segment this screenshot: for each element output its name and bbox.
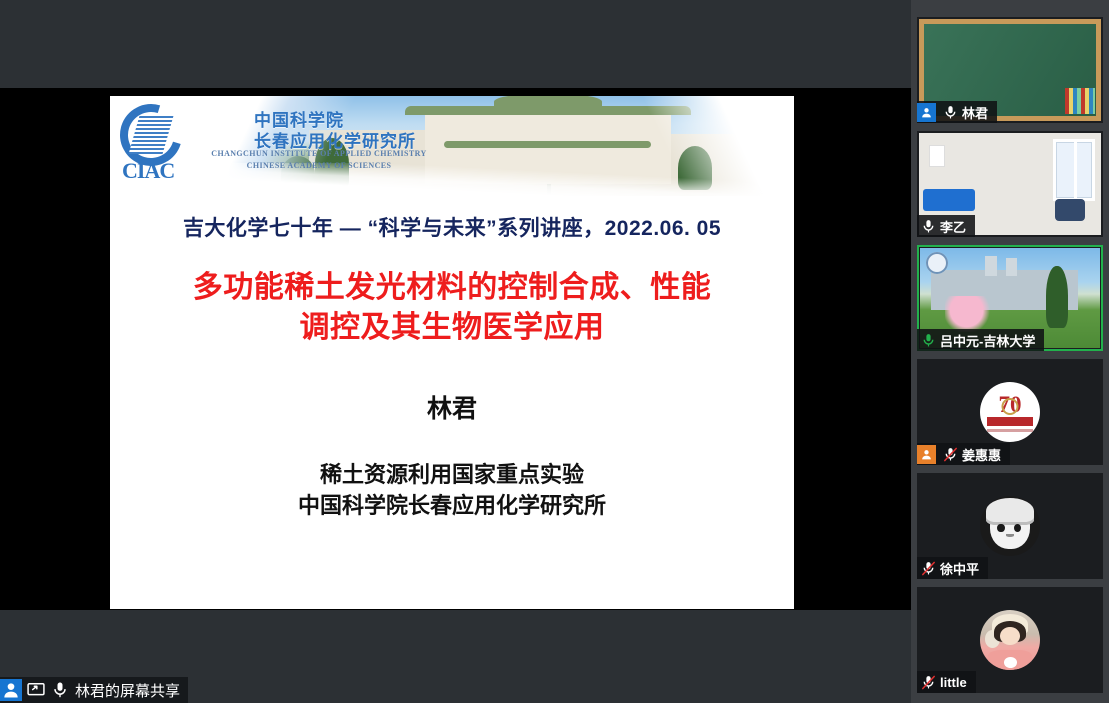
presenter-name: 林君 <box>110 389 794 425</box>
slide-title-line1: 多功能稀土发光材料的控制合成、性能 <box>136 268 768 308</box>
participant-tile[interactable]: 70 姜惠惠 <box>917 359 1103 465</box>
slide-title-line2: 调控及其生物医学应用 <box>136 308 768 348</box>
person-icon <box>917 103 936 122</box>
participant-name-strip: 李乙 <box>917 215 975 237</box>
screen-share-status-bar: 林君的屏幕共享 <box>0 677 188 703</box>
participant-filmstrip[interactable]: 林君 李乙 <box>911 0 1109 703</box>
manga-character-avatar-icon <box>980 496 1040 556</box>
participant-name: 林君 <box>962 103 988 122</box>
participant-tile[interactable]: 徐中平 <box>917 473 1103 579</box>
participant-name-strip: 姜惠惠 <box>917 443 1010 465</box>
participant-name: 吕中元-吉林大学 <box>940 331 1035 350</box>
participant-tile[interactable]: 李乙 <box>917 131 1103 237</box>
screen-share-label: 林君的屏幕共享 <box>74 680 180 701</box>
participant-tile[interactable]: 林君 <box>917 17 1103 123</box>
child-photo-avatar-icon <box>980 610 1040 670</box>
screen-share-icon <box>26 680 46 700</box>
presenter-affiliation: 稀土资源利用国家重点实验 中国科学院长春应用化学研究所 <box>110 459 794 521</box>
microphone-muted-icon[interactable] <box>920 674 937 691</box>
ciac-logo-block: CIAC 中国科学院 长春应用化学研究所 <box>120 104 416 166</box>
affiliation-line1: 稀土资源利用国家重点实验 <box>110 459 794 490</box>
participant-name-strip: 林君 <box>917 101 997 123</box>
university-emblem-icon <box>926 252 948 274</box>
participant-name: 姜惠惠 <box>962 445 1001 464</box>
slide-header-banner: CIAC 中国科学院 长春应用化学研究所 CHANGCHUN INSTITUTE… <box>110 96 794 196</box>
screen-share-region: CIAC 中国科学院 长春应用化学研究所 CHANGCHUN INSTITUTE… <box>0 0 911 703</box>
slide-title: 多功能稀土发光材料的控制合成、性能 调控及其生物医学应用 <box>110 268 794 347</box>
participant-name-strip: 吕中元-吉林大学 <box>917 329 1044 351</box>
participant-tile[interactable]: little <box>917 587 1103 693</box>
org-name-cn-line1: 中国科学院 <box>254 110 416 131</box>
microphone-icon[interactable] <box>920 218 937 235</box>
affiliation-line2: 中国科学院长春应用化学研究所 <box>110 490 794 521</box>
org-name-cn-line2: 长春应用化学研究所 <box>254 131 416 152</box>
ciac-acronym: CIAC <box>122 158 174 184</box>
presentation-slide: CIAC 中国科学院 长春应用化学研究所 CHANGCHUN INSTITUTE… <box>110 96 794 609</box>
microphone-icon <box>50 680 70 700</box>
microphone-icon[interactable] <box>942 104 959 121</box>
person-icon <box>0 679 22 701</box>
microphone-muted-icon[interactable] <box>942 446 959 463</box>
microphone-muted-icon[interactable] <box>920 560 937 577</box>
participant-name: little <box>940 675 967 690</box>
anniversary-70-avatar-icon: 70 <box>980 382 1040 442</box>
participant-name: 李乙 <box>940 217 966 236</box>
ciac-logo-icon: CIAC <box>120 104 182 166</box>
participant-name-strip: 徐中平 <box>917 557 988 579</box>
person-icon <box>917 445 936 464</box>
participant-name: 徐中平 <box>940 559 979 578</box>
microphone-icon[interactable] <box>920 332 937 349</box>
participant-name-strip: little <box>917 671 976 693</box>
participant-tile-active-speaker[interactable]: 吕中元-吉林大学 <box>917 245 1103 351</box>
lecture-series-line: 吉大化学七十年 — “科学与未来”系列讲座，2022.06. 05 <box>110 212 794 242</box>
